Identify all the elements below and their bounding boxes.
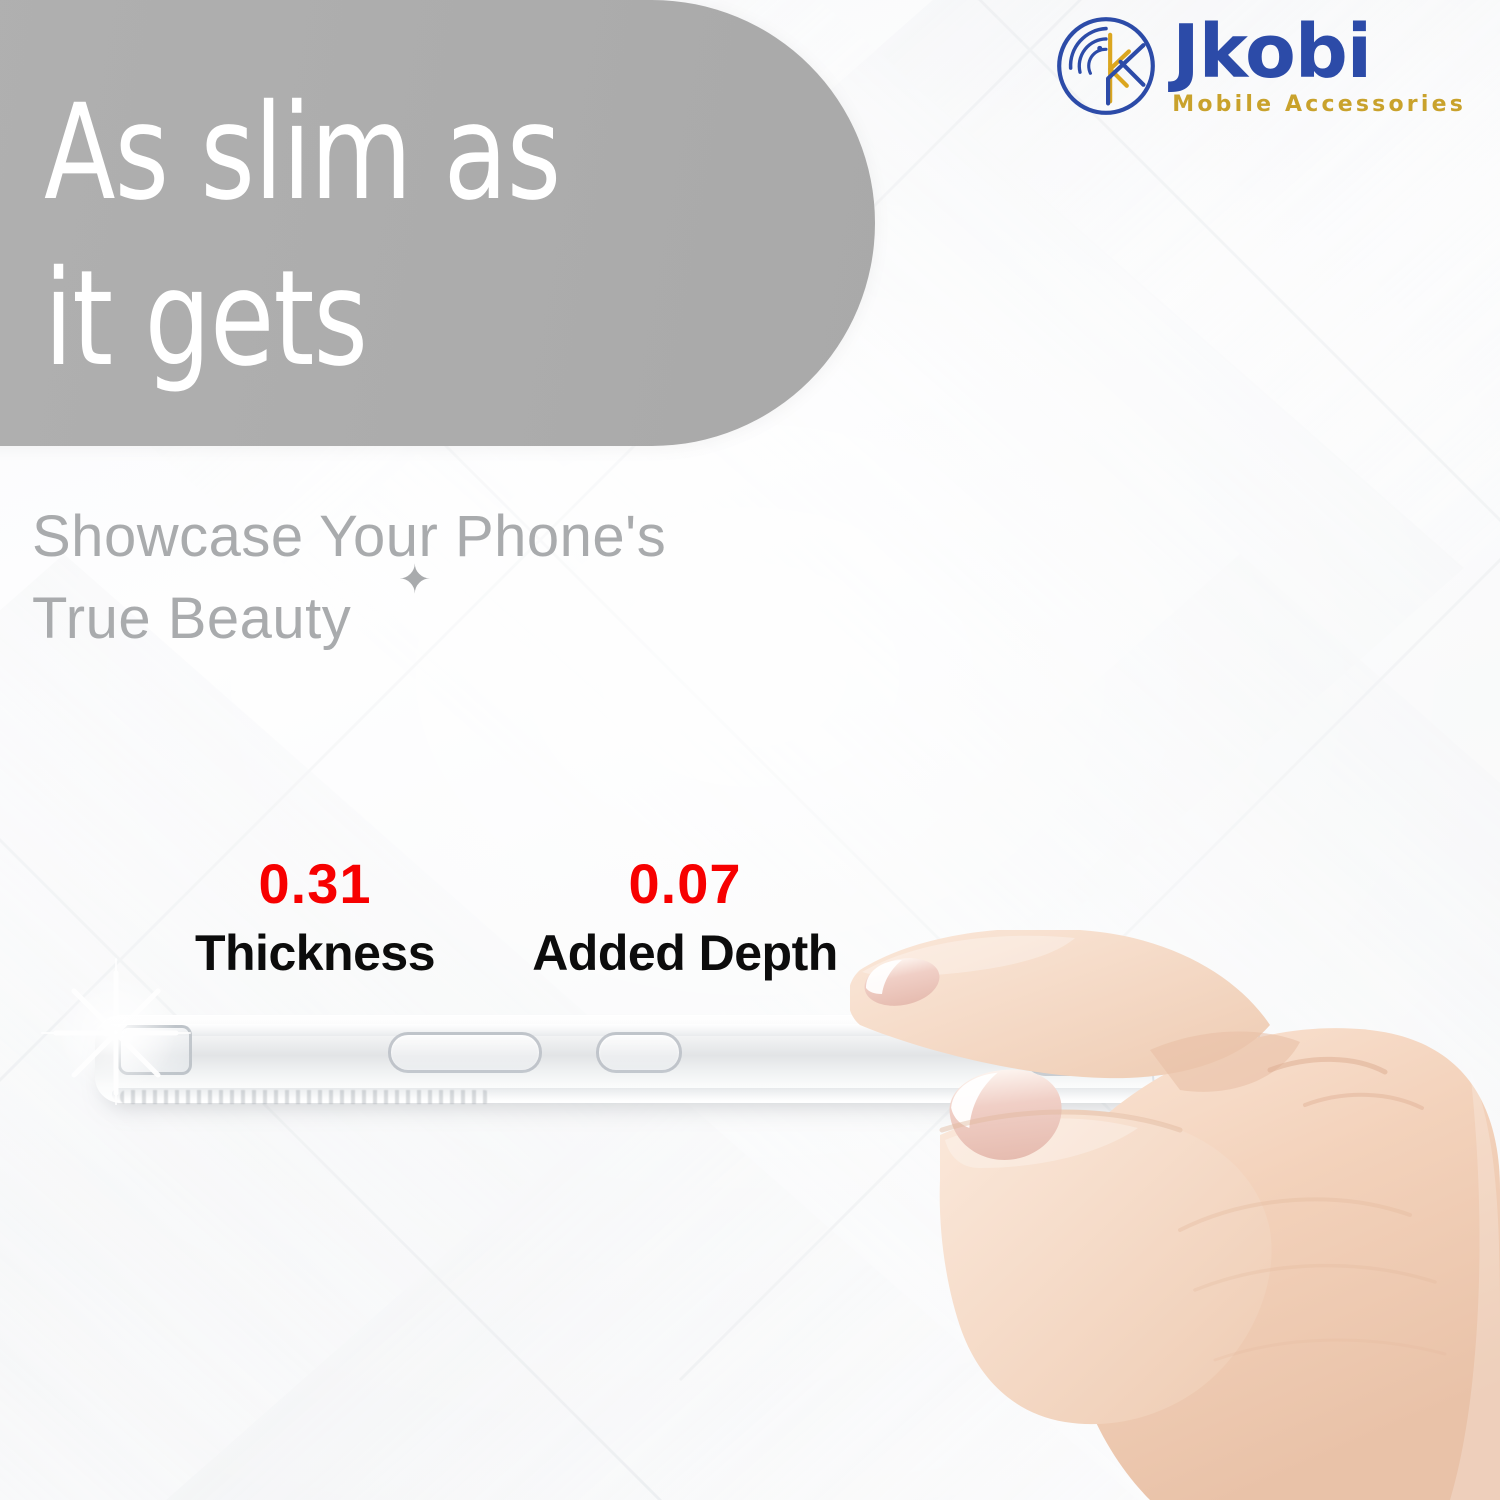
brand-wordmark: Jkobi Mobile Accessories: [1172, 16, 1466, 116]
sparkle-icon: ✦: [398, 560, 432, 600]
power-button-cutout: [596, 1032, 682, 1073]
speaker-port-strip: [120, 1090, 490, 1104]
brand-name: Jkobi: [1172, 16, 1371, 89]
brand-tagline: Mobile Accessories: [1172, 94, 1466, 116]
brand-logo: Jkobi Mobile Accessories: [1054, 14, 1466, 118]
headline-text: As slim as it gets: [44, 70, 713, 403]
jkobi-emblem-icon: [1054, 14, 1158, 118]
spec-added-depth-value: 0.07: [520, 856, 850, 912]
subheading-text: Showcase Your Phone's True Beauty: [32, 496, 872, 661]
sim-tray-cutout: [118, 1025, 192, 1075]
hand-holding-phone: [850, 930, 1500, 1500]
marketing-banner: Jkobi Mobile Accessories As slim as it g…: [0, 0, 1500, 1500]
volume-button-cutout: [388, 1032, 542, 1073]
spec-thickness-value: 0.31: [190, 856, 440, 912]
